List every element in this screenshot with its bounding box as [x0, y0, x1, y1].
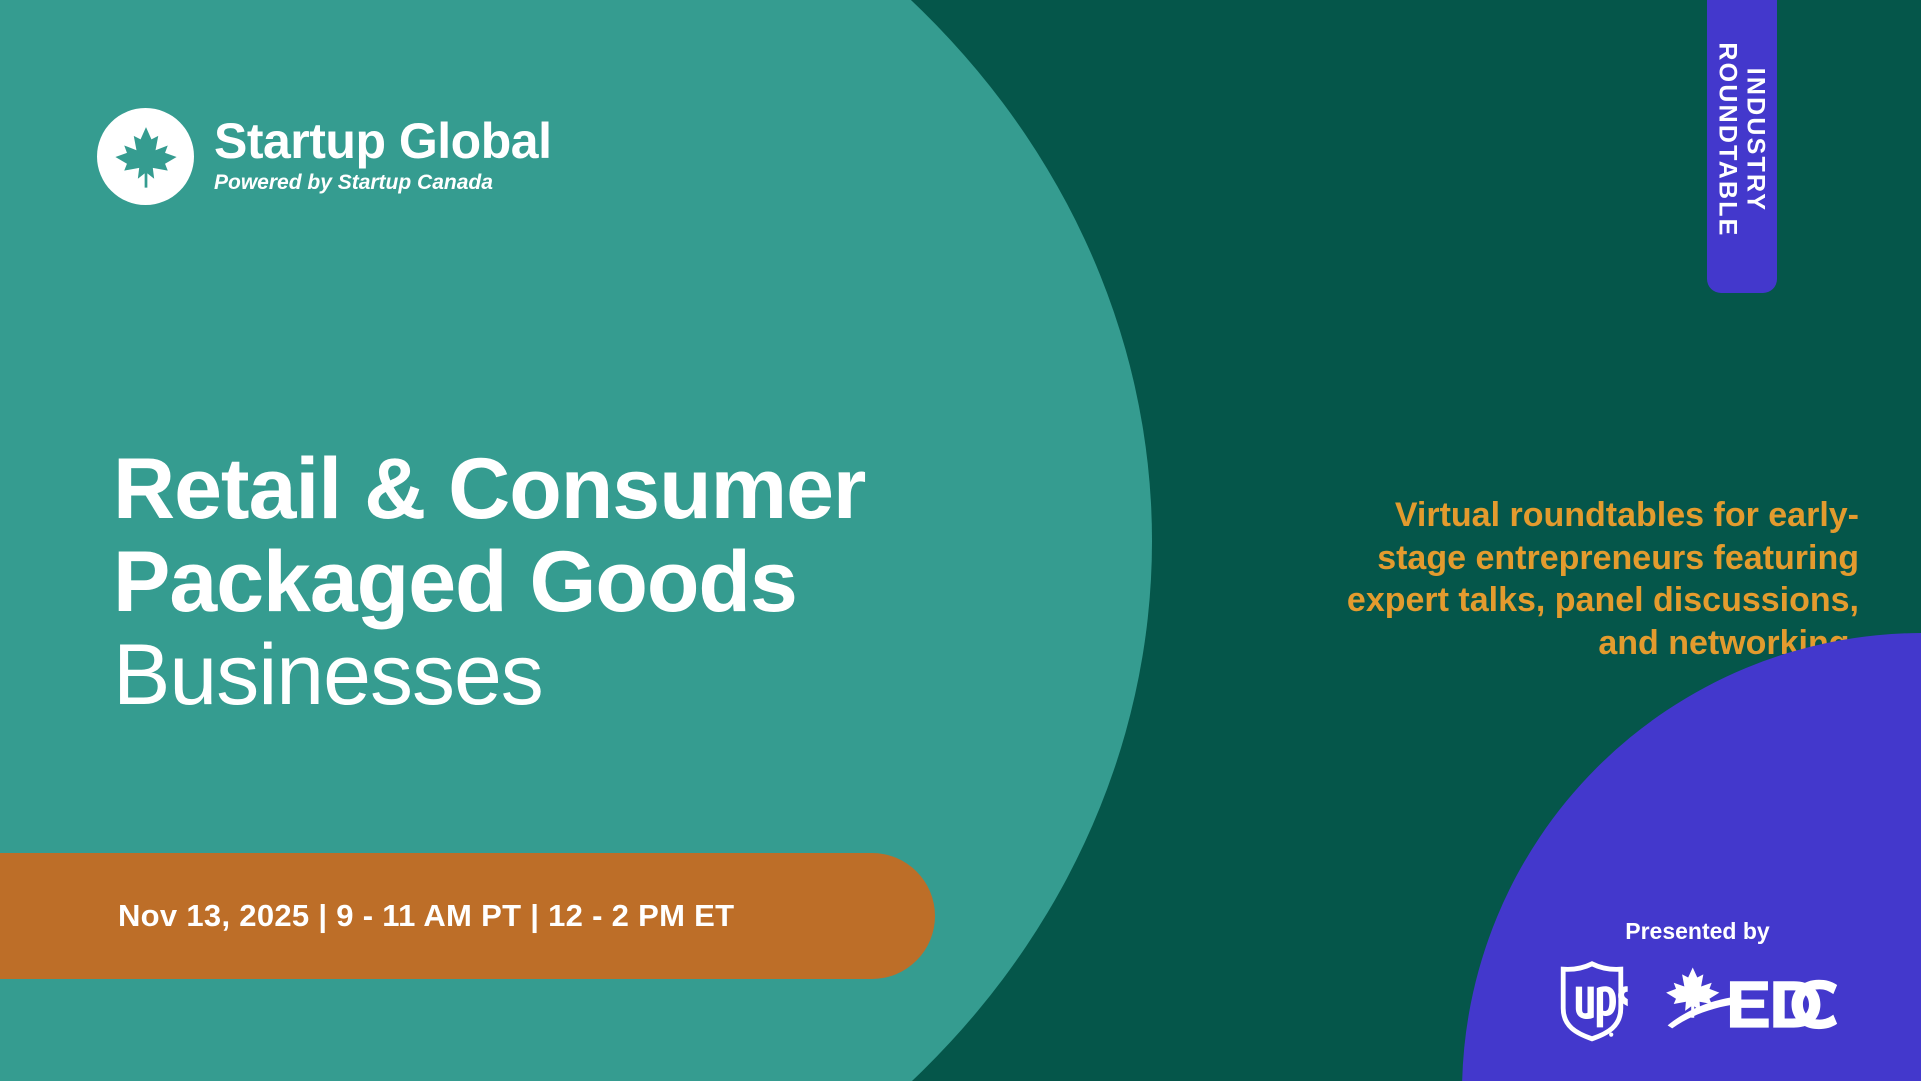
- event-promo-poster: Startup Global Powered by Startup Canada…: [0, 0, 1921, 1081]
- headline-line-3: Businesses: [113, 629, 953, 722]
- industry-roundtable-badge: INDUSTRY ROUNDTABLE: [1707, 0, 1777, 293]
- sponsor-logo-row: [1474, 959, 1921, 1043]
- brand-tagline: Powered by Startup Canada: [214, 167, 551, 199]
- presented-by-block: Presented by: [1474, 920, 1921, 1043]
- brand-logo-lockup: Startup Global Powered by Startup Canada: [97, 108, 551, 205]
- badge-label: INDUSTRY ROUNDTABLE: [1714, 42, 1770, 237]
- page-title: Retail & Consumer Packaged Goods Busines…: [113, 443, 953, 722]
- brand-text: Startup Global Powered by Startup Canada: [214, 115, 551, 199]
- presented-by-label: Presented by: [1474, 920, 1921, 943]
- event-description: Virtual roundtables for early-stage entr…: [1329, 494, 1859, 664]
- event-datetime-bar: Nov 13, 2025 | 9 - 11 AM PT | 12 - 2 PM …: [0, 853, 935, 979]
- badge-line-2: ROUNDTABLE: [1714, 42, 1742, 237]
- headline-line-1: Retail & Consumer: [113, 443, 953, 536]
- edc-maple-leaf-logo: [1664, 963, 1840, 1039]
- brand-name: Startup Global: [214, 115, 551, 168]
- event-datetime-text: Nov 13, 2025 | 9 - 11 AM PT | 12 - 2 PM …: [118, 898, 734, 934]
- ups-shield-logo: [1556, 959, 1628, 1043]
- badge-line-1: INDUSTRY: [1742, 42, 1770, 237]
- maple-leaf-icon: [97, 108, 194, 205]
- headline-line-2: Packaged Goods: [113, 536, 953, 629]
